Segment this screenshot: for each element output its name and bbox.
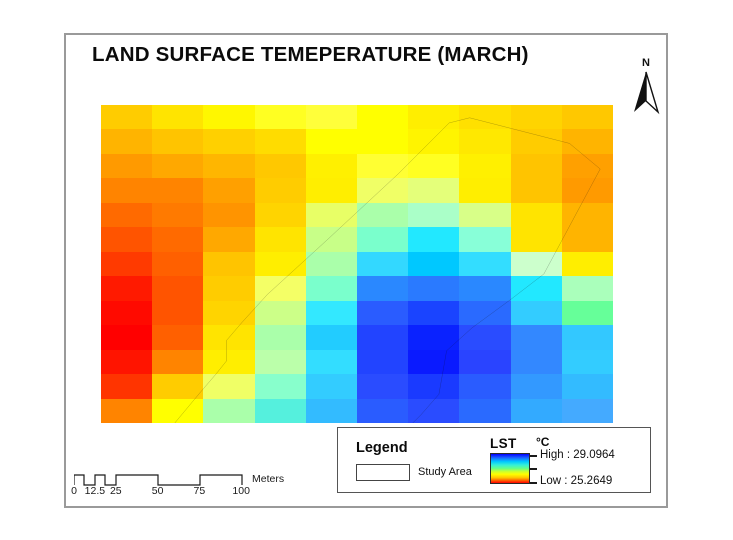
raster-cell [306,203,357,227]
raster-cell [203,227,254,251]
lst-legend-label: LST [490,436,517,451]
raster-cell [357,301,408,325]
raster-cell [459,252,510,276]
raster-cell [101,325,152,349]
raster-cell [203,105,254,129]
raster-cell [203,276,254,300]
raster-cell [357,129,408,153]
map-layout-frame: LAND SURFACE TEMEPERATURE (MARCH) N Mete… [64,33,668,508]
raster-cell [459,227,510,251]
raster-cell [408,178,459,202]
raster-cell [408,374,459,398]
raster-cell [101,129,152,153]
raster-cell [306,129,357,153]
raster-cell [203,178,254,202]
scale-bar-tick-label: 25 [110,485,122,497]
raster-cell [101,374,152,398]
raster-cell [255,350,306,374]
ramp-tick-mid [530,468,537,470]
scale-bar-tick-label: 75 [194,485,206,497]
page-title: LAND SURFACE TEMEPERATURE (MARCH) [92,43,529,67]
raster-cell [562,301,613,325]
north-arrow-icon [629,70,663,115]
lst-raster-grid [101,105,613,423]
raster-cell [152,301,203,325]
raster-map[interactable] [101,105,613,423]
raster-cell [357,203,408,227]
raster-cell [357,178,408,202]
raster-cell [255,227,306,251]
raster-cell [459,203,510,227]
raster-cell [255,105,306,129]
north-arrow-label: N [629,57,663,69]
raster-cell [562,276,613,300]
raster-cell [203,399,254,423]
raster-cell [306,301,357,325]
scale-bar-tick-label: 100 [232,485,250,497]
raster-cell [357,227,408,251]
raster-cell [562,154,613,178]
raster-cell [306,325,357,349]
scale-bar-tick-label: 0 [71,485,77,497]
raster-cell [562,399,613,423]
raster-cell [306,105,357,129]
raster-cell [152,129,203,153]
raster-cell [152,105,203,129]
raster-cell [408,105,459,129]
raster-cell [562,178,613,202]
raster-cell [511,301,562,325]
raster-cell [408,129,459,153]
raster-cell [306,252,357,276]
raster-cell [152,276,203,300]
legend-low-value: Low : 25.2649 [540,475,612,487]
raster-cell [101,252,152,276]
raster-cell [562,227,613,251]
raster-cell [101,350,152,374]
raster-cell [459,399,510,423]
north-arrow: N [629,57,663,115]
raster-cell [255,276,306,300]
raster-cell [306,154,357,178]
raster-cell [152,399,203,423]
raster-cell [357,252,408,276]
raster-cell [408,399,459,423]
raster-cell [511,105,562,129]
raster-cell [408,252,459,276]
raster-cell [511,129,562,153]
study-area-legend-label: Study Area [418,466,472,478]
raster-cell [152,203,203,227]
raster-cell [101,276,152,300]
raster-cell [203,203,254,227]
raster-cell [357,325,408,349]
raster-cell [255,252,306,276]
raster-cell [306,399,357,423]
raster-cell [459,276,510,300]
raster-cell [306,374,357,398]
raster-cell [306,227,357,251]
raster-cell [101,105,152,129]
raster-cell [408,203,459,227]
raster-cell [511,227,562,251]
raster-cell [255,374,306,398]
raster-cell [511,154,562,178]
scale-bar-units: Meters [252,473,284,485]
raster-cell [152,252,203,276]
scale-bar-tick-label: 50 [152,485,164,497]
unit-legend-label: °C [536,435,549,449]
raster-cell [255,301,306,325]
raster-cell [306,276,357,300]
raster-cell [101,178,152,202]
raster-cell [511,203,562,227]
raster-cell [101,227,152,251]
raster-cell [203,325,254,349]
raster-cell [408,227,459,251]
raster-cell [459,350,510,374]
raster-cell [511,252,562,276]
raster-cell [255,129,306,153]
raster-cell [203,252,254,276]
raster-cell [152,154,203,178]
raster-cell [101,399,152,423]
raster-cell [203,129,254,153]
raster-cell [357,276,408,300]
raster-cell [408,325,459,349]
raster-cell [562,203,613,227]
raster-cell [408,350,459,374]
raster-cell [255,399,306,423]
raster-cell [459,154,510,178]
raster-cell [459,325,510,349]
raster-cell [255,178,306,202]
raster-cell [511,350,562,374]
scale-bar-ticks: 012.5255075100 [74,485,264,499]
raster-cell [357,154,408,178]
raster-cell [408,154,459,178]
raster-cell [459,178,510,202]
raster-cell [101,301,152,325]
raster-cell [306,350,357,374]
raster-cell [152,178,203,202]
raster-cell [562,105,613,129]
raster-cell [357,374,408,398]
raster-cell [101,154,152,178]
raster-cell [357,399,408,423]
color-ramp [490,453,530,484]
raster-cell [203,374,254,398]
raster-cell [562,129,613,153]
scale-bar: Meters 012.5255075100 [74,453,289,495]
legend-panel: Legend Study Area LST °C High : 29.0964 … [337,427,651,493]
raster-cell [203,154,254,178]
raster-cell [357,105,408,129]
raster-cell [255,154,306,178]
ramp-tick-high [530,455,537,457]
raster-cell [255,203,306,227]
raster-cell [408,276,459,300]
raster-cell [255,325,306,349]
raster-cell [511,276,562,300]
raster-cell [357,350,408,374]
raster-cell [459,374,510,398]
ramp-tick-low [530,482,537,484]
raster-cell [152,350,203,374]
raster-cell [562,350,613,374]
raster-cell [511,178,562,202]
raster-cell [511,325,562,349]
legend-title: Legend [356,440,408,456]
raster-cell [562,374,613,398]
raster-cell [459,301,510,325]
raster-cell [203,350,254,374]
raster-cell [152,325,203,349]
raster-cell [511,374,562,398]
raster-cell [306,178,357,202]
raster-cell [459,105,510,129]
raster-cell [511,399,562,423]
raster-cell [152,227,203,251]
raster-cell [562,325,613,349]
legend-high-value: High : 29.0964 [540,449,615,461]
raster-cell [408,301,459,325]
scale-bar-tick-label: 12.5 [85,485,105,497]
raster-cell [152,374,203,398]
study-area-swatch [356,464,410,481]
raster-cell [562,252,613,276]
raster-cell [203,301,254,325]
raster-cell [459,129,510,153]
raster-cell [101,203,152,227]
